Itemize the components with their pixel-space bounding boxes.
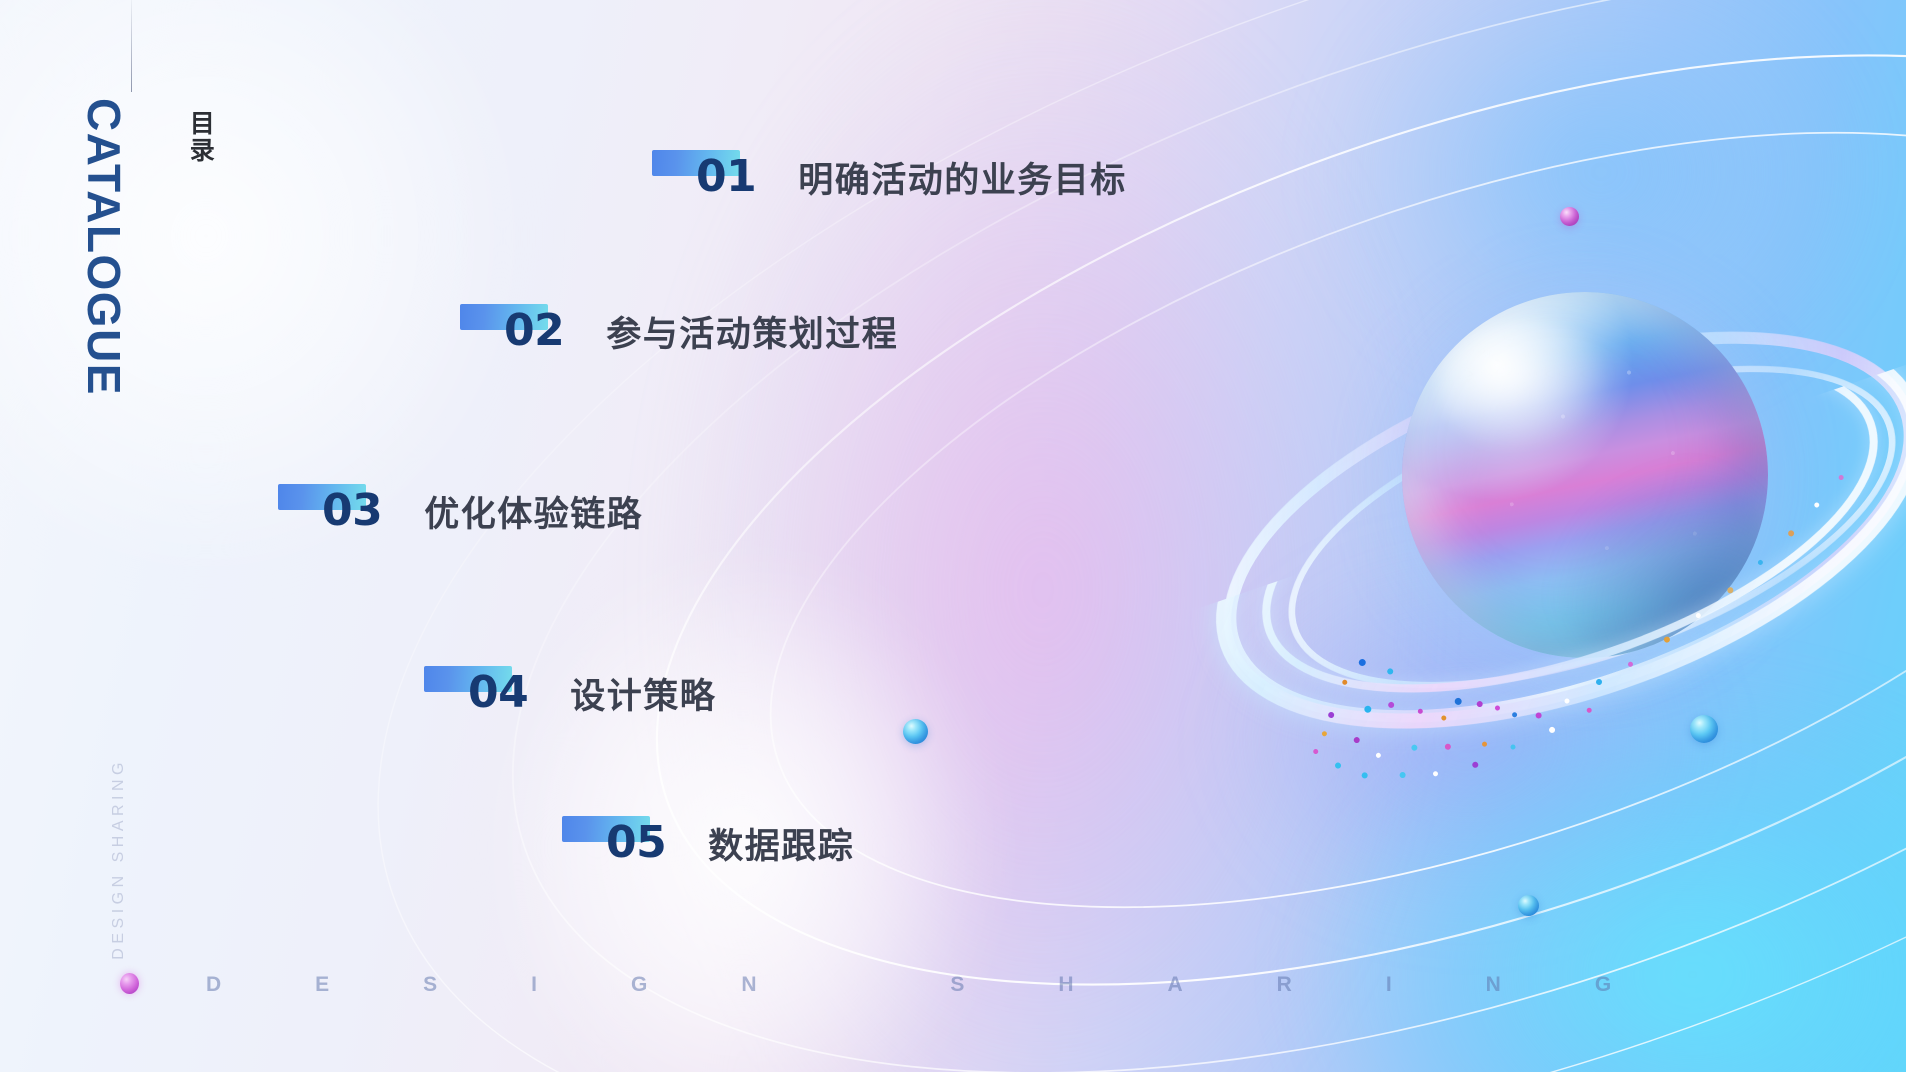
menu-label-05: 数据跟踪 [708, 818, 854, 869]
menu-number-badge-04: 04 [424, 662, 528, 724]
menu-item-05[interactable]: 05 数据跟踪 [562, 812, 854, 874]
catalogue-menu: 01 明确活动的业务目标 02 参与活动策划过程 03 优化体验链路 04 设计… [0, 0, 1906, 1072]
menu-item-01[interactable]: 01 明确活动的业务目标 [652, 146, 1127, 208]
menu-number-badge-01: 01 [652, 146, 756, 208]
bottom-design-sharing: DESIGN SHARING [206, 973, 1705, 997]
menu-item-02[interactable]: 02 参与活动策划过程 [460, 300, 898, 362]
menu-label-01: 明确活动的业务目标 [798, 152, 1127, 203]
catalogue-slide: CATALOGUE 目录 DESIGN SHARING 01 明确活动的业务目标… [0, 0, 1906, 1072]
menu-label-02: 参与活动策划过程 [606, 306, 898, 357]
pink-sphere-bottom-left [120, 973, 139, 994]
menu-number-03: 03 [322, 489, 382, 533]
menu-label-04: 设计策略 [570, 668, 716, 719]
menu-number-05: 05 [606, 821, 666, 865]
menu-number-badge-03: 03 [278, 480, 382, 542]
menu-label-03: 优化体验链路 [424, 486, 643, 537]
menu-item-03[interactable]: 03 优化体验链路 [278, 480, 643, 542]
menu-item-04[interactable]: 04 设计策略 [424, 662, 716, 724]
menu-number-badge-02: 02 [460, 300, 564, 362]
menu-number-04: 04 [468, 671, 528, 715]
menu-number-badge-05: 05 [562, 812, 666, 874]
menu-number-01: 01 [696, 155, 756, 199]
menu-number-02: 02 [504, 309, 564, 353]
